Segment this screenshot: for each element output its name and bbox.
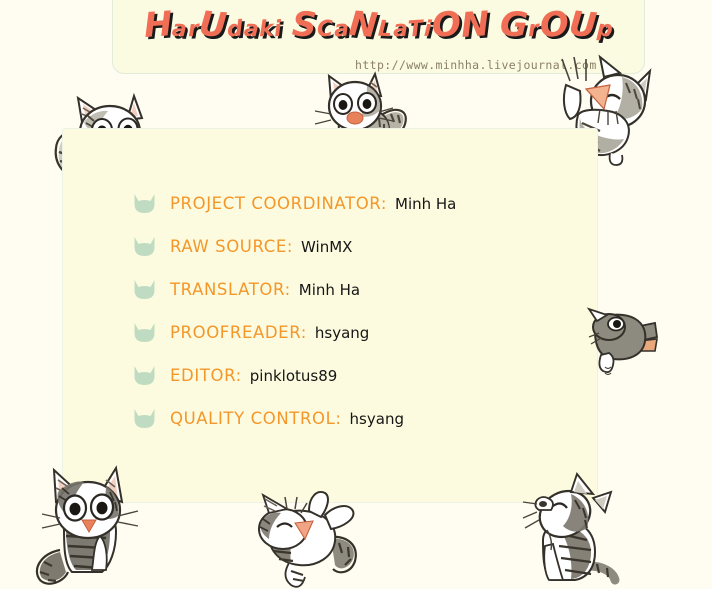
credit-value: WinMX: [301, 238, 352, 256]
title-char: G: [499, 7, 529, 44]
credit-label: QUALITY CONTROL:: [170, 409, 342, 428]
cat-looking-up-bottom-right: [513, 478, 621, 589]
credit-row: PROOFREADER: hsyang: [133, 311, 593, 354]
credit-row: RAW SOURCE: WinMX: [133, 225, 593, 268]
title-char: L: [377, 18, 393, 42]
title-word-scanlation: SCaNLaTiON: [292, 8, 490, 44]
credit-value: hsyang: [315, 324, 369, 342]
page-title: HarUdakiSCaNLaTiONGrOUp: [112, 8, 645, 44]
credit-label: RAW SOURCE:: [170, 237, 293, 256]
cat-head-icon: [133, 279, 156, 300]
title-char: i: [273, 18, 283, 42]
cat-head-icon: [133, 236, 156, 257]
cat-sitting-bottom-left: [22, 462, 150, 588]
credit-label: EDITOR:: [170, 366, 242, 385]
credit-value: pinklotus89: [250, 367, 338, 385]
credit-label: PROJECT COORDINATOR:: [170, 194, 387, 213]
cat-rolling-bottom-center: [243, 487, 381, 589]
credits-page: HarUdakiSCaNLaTiONGrOUp http://www.minhh…: [0, 0, 712, 589]
credit-value: Minh Ha: [299, 281, 360, 299]
title-char: C: [317, 18, 334, 42]
cat-head-icon: [133, 193, 156, 214]
title-char: i: [423, 18, 432, 41]
title-word-group: GrOUp: [500, 8, 614, 44]
title-char: T: [407, 17, 424, 41]
cat-head-icon: [133, 365, 156, 386]
title-char: O: [538, 7, 570, 45]
title-char: H: [142, 7, 173, 45]
cat-head-icon: [133, 408, 156, 429]
title-char: k: [259, 18, 275, 42]
title-char: N: [348, 7, 380, 45]
title-word-harudaki: HarUdaki: [144, 8, 283, 44]
credits-list: PROJECT COORDINATOR: Minh Ha RAW SOURCE:…: [133, 182, 593, 440]
title-char: r: [528, 18, 540, 41]
title-char: O: [431, 7, 462, 44]
title-char: a: [172, 18, 189, 42]
credit-label: TRANSLATOR:: [170, 280, 291, 299]
credit-row: EDITOR: pinklotus89: [133, 354, 593, 397]
credit-row: PROJECT COORDINATOR: Minh Ha: [133, 182, 593, 225]
title-char: a: [392, 18, 408, 42]
title-char: U: [568, 7, 599, 45]
credit-value: hsyang: [350, 410, 404, 428]
title-char: S: [291, 7, 318, 44]
cat-lying-right: [583, 297, 659, 385]
title-char: U: [198, 7, 229, 45]
credit-row: TRANSLATOR: Minh Ha: [133, 268, 593, 311]
credit-row: QUALITY CONTROL: hsyang: [133, 397, 593, 440]
title-char: d: [227, 17, 245, 41]
title-char: N: [460, 7, 491, 45]
title-char: a: [243, 18, 260, 42]
credit-label: PROOFREADER:: [170, 323, 307, 342]
title-char: p: [597, 18, 614, 42]
cat-head-icon: [133, 322, 156, 343]
credit-value: Minh Ha: [395, 195, 456, 213]
